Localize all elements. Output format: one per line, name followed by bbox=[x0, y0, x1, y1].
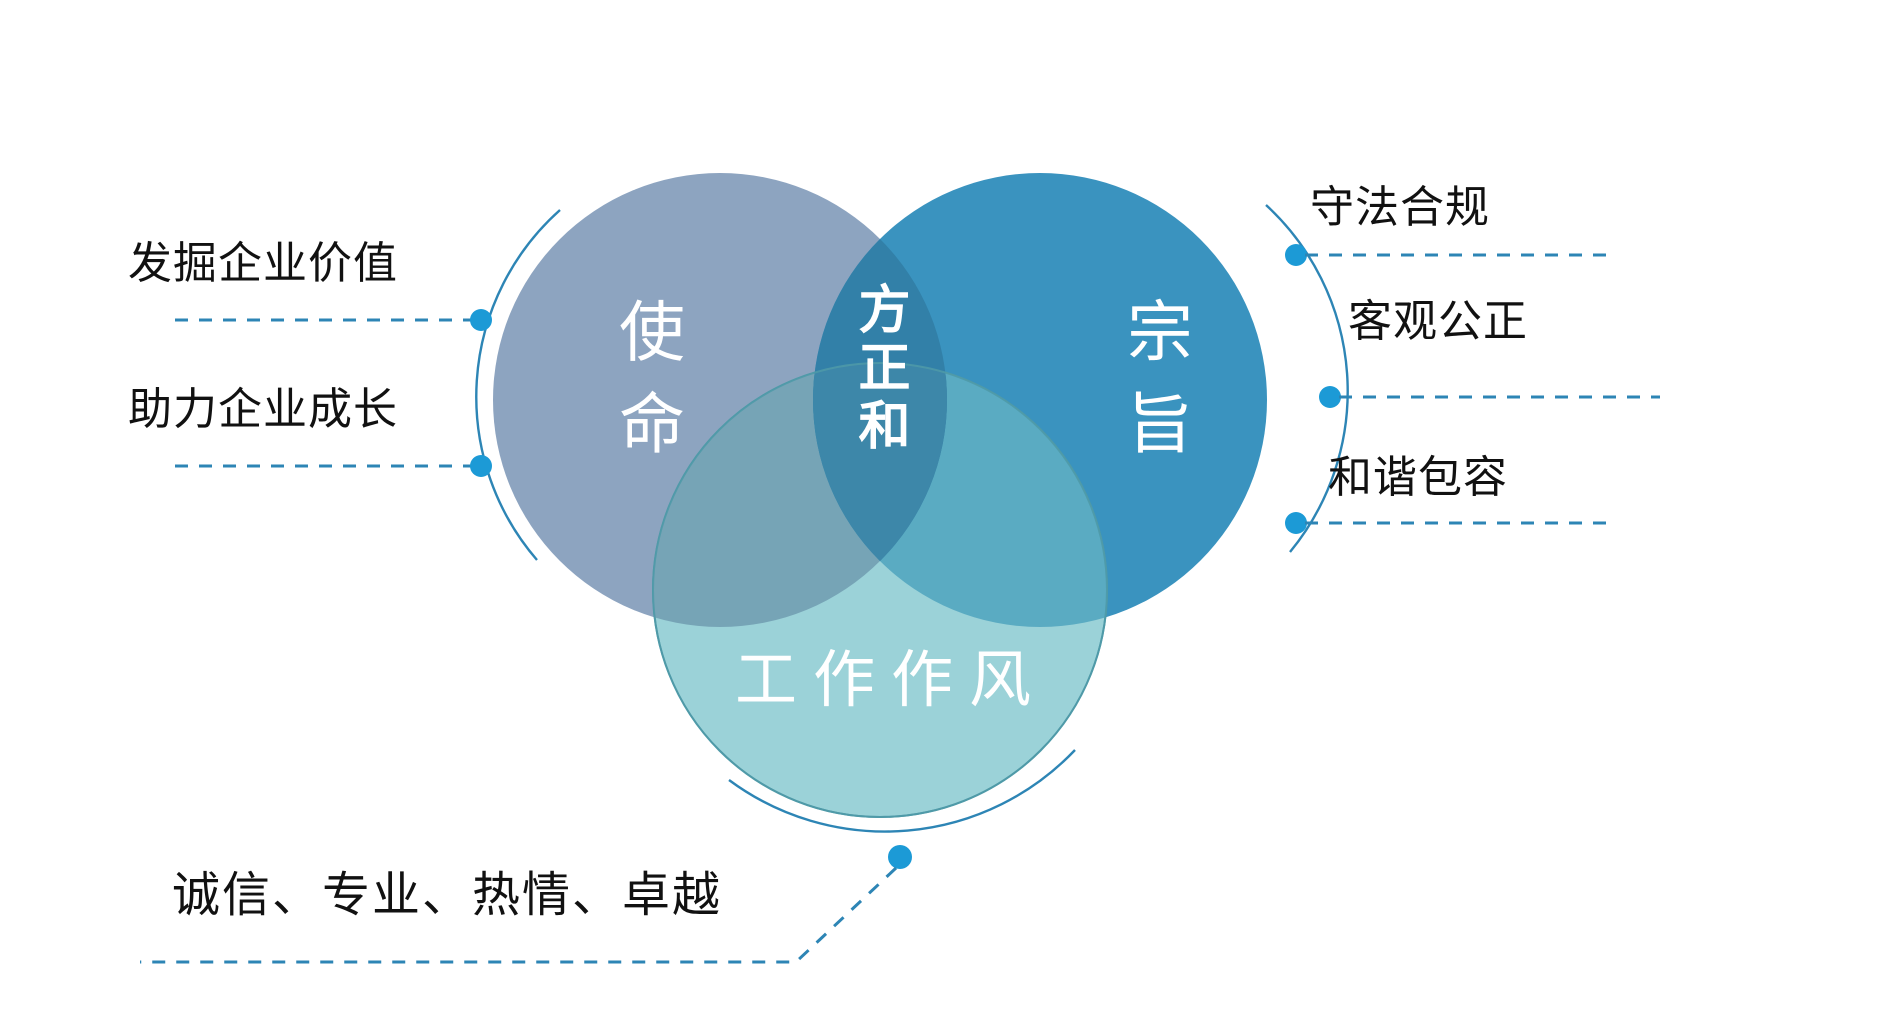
right-callout-2-dot[interactable] bbox=[1319, 386, 1341, 408]
bottom-callout-label: 诚信、专业、热情、卓越 bbox=[172, 872, 722, 920]
right-callout-2-label: 客观公正 bbox=[1348, 300, 1528, 344]
right-callout-3-dot[interactable] bbox=[1285, 512, 1307, 534]
venn-diagram-canvas: 使命 宗旨 方正和 工作作风 发掘企业价值 助力企业成长 守法合规 客观公正 和… bbox=[0, 0, 1880, 1036]
right-callout-1-label: 守法合规 bbox=[1310, 186, 1490, 230]
left-callout-2-label: 助力企业成长 bbox=[128, 388, 398, 432]
left-callout-2-dot[interactable] bbox=[470, 455, 492, 477]
right-callout-3-label: 和谐包容 bbox=[1328, 456, 1508, 500]
left-callout-1-dot[interactable] bbox=[470, 309, 492, 331]
left-callout-1-label: 发掘企业价值 bbox=[128, 242, 398, 286]
work-style-circle-label: 工作作风 bbox=[735, 650, 1047, 712]
right-callout-1-dot[interactable] bbox=[1285, 244, 1307, 266]
core-value-label: 方正和 bbox=[853, 282, 905, 456]
mission-circle-label: 使命 bbox=[612, 297, 678, 481]
bottom-callout-dot[interactable] bbox=[888, 845, 912, 869]
purpose-circle-label: 宗旨 bbox=[1120, 297, 1186, 481]
